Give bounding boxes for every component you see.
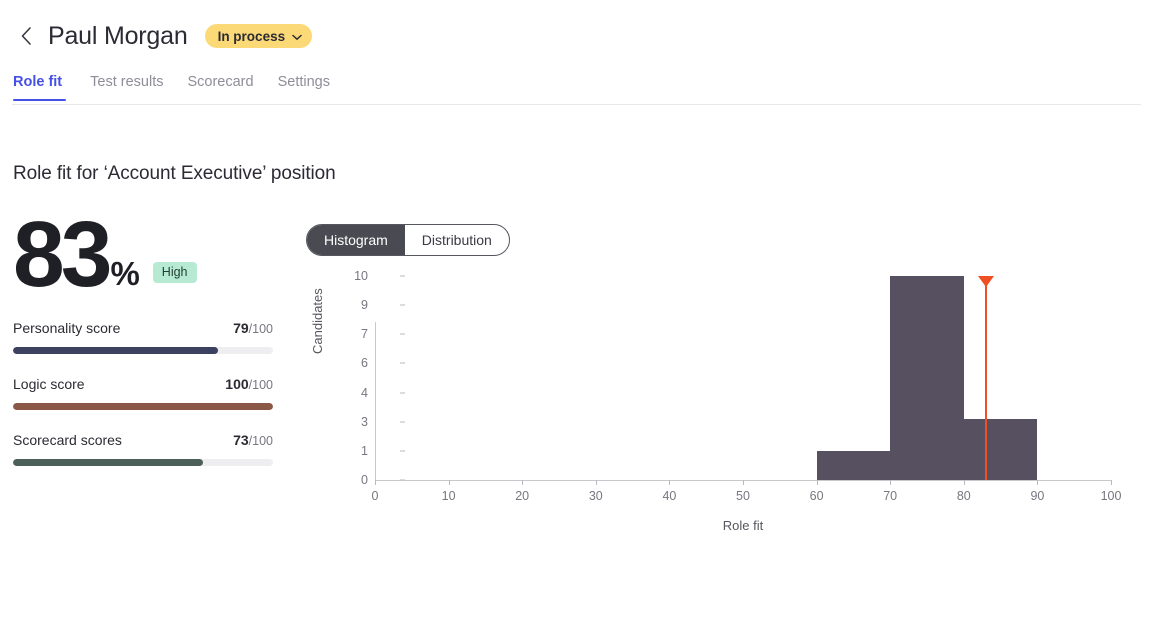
x-tick-label: 90 <box>1030 489 1044 503</box>
y-axis-label: Candidates <box>310 288 325 354</box>
x-tick-label: 60 <box>810 489 824 503</box>
toggle-option-histogram-label: Histogram <box>324 232 388 248</box>
tab-test-results[interactable]: Test results <box>78 74 175 101</box>
tab-test-results-label: Test results <box>90 74 163 90</box>
metric-label: Scorecard scores <box>13 432 122 448</box>
candidate-marker-arrow <box>978 276 994 287</box>
x-tick-label: 10 <box>442 489 456 503</box>
metric-value-denominator: /100 <box>249 378 273 392</box>
x-tick-label: 40 <box>662 489 676 503</box>
x-tick-label: 50 <box>736 489 750 503</box>
x-tick-mark <box>375 480 376 485</box>
candidate-marker-line <box>985 284 987 480</box>
x-tick-mark <box>669 480 670 485</box>
status-badge[interactable]: In process <box>205 24 313 48</box>
metric-label: Personality score <box>13 320 120 336</box>
metric-value: 73/100 <box>233 432 273 448</box>
overall-score-value: 83 <box>13 212 108 298</box>
x-tick-label: 80 <box>957 489 971 503</box>
metric-progress-track <box>13 459 273 466</box>
x-tick-mark <box>743 480 744 485</box>
metric-progress-fill <box>13 347 218 354</box>
score-panel: 83 % High Personality score 79/100 Logic… <box>13 206 273 466</box>
metric-value-denominator: /100 <box>249 434 273 448</box>
chart-view-toggle: Histogram Distribution <box>306 224 510 256</box>
metric-progress-track <box>13 403 273 410</box>
x-tick-label: 70 <box>883 489 897 503</box>
tab-role-fit[interactable]: Role fit <box>13 74 78 101</box>
status-badge-label: In process <box>218 29 286 44</box>
toggle-option-distribution-label: Distribution <box>422 232 492 248</box>
metric-value-number: 100 <box>225 376 248 392</box>
back-chevron-icon[interactable] <box>14 24 38 48</box>
page-header: Paul Morgan In process <box>0 0 1153 72</box>
plot-area <box>375 276 1111 480</box>
metric-value: 100/100 <box>225 376 273 392</box>
overall-score: 83 % High <box>13 206 273 298</box>
tab-role-fit-label: Role fit <box>13 74 62 90</box>
metric-personality-score: Personality score 79/100 <box>13 320 273 354</box>
metric-label: Logic score <box>13 376 85 392</box>
x-tick-mark <box>1037 480 1038 485</box>
page-title: Paul Morgan <box>48 22 188 51</box>
x-tick-mark <box>449 480 450 485</box>
section-title: Role fit for ‘Account Executive’ positio… <box>13 163 336 185</box>
metric-logic-score: Logic score 100/100 <box>13 376 273 410</box>
metric-progress-track <box>13 347 273 354</box>
tab-settings-label: Settings <box>278 74 330 90</box>
x-axis-label: Role fit <box>375 518 1111 533</box>
x-tick-label: 100 <box>1101 489 1122 503</box>
x-tick-label: 30 <box>589 489 603 503</box>
toggle-option-distribution[interactable]: Distribution <box>405 225 509 255</box>
tab-divider <box>12 104 1141 105</box>
x-tick-label: 20 <box>515 489 529 503</box>
x-tick-mark <box>817 480 818 485</box>
y-tick-label: 1 <box>361 444 368 458</box>
toggle-option-histogram[interactable]: Histogram <box>307 225 405 255</box>
metric-value-number: 79 <box>233 320 249 336</box>
x-tick-mark <box>596 480 597 485</box>
metric-value-denominator: /100 <box>249 322 273 336</box>
y-tick-label: 6 <box>361 356 368 370</box>
metric-progress-fill <box>13 403 273 410</box>
role-fit-page: Paul Morgan In process Role fit Test res… <box>0 0 1153 629</box>
histogram-bar <box>817 451 891 480</box>
x-tick-label: 0 <box>372 489 379 503</box>
tab-settings[interactable]: Settings <box>266 74 342 101</box>
metric-progress-fill <box>13 459 203 466</box>
metric-scorecard-scores: Scorecard scores 73/100 <box>13 432 273 466</box>
y-tick-label: 7 <box>361 327 368 341</box>
y-tick-label: 0 <box>361 473 368 487</box>
metric-value-number: 73 <box>233 432 249 448</box>
overall-score-badge: High <box>153 262 197 283</box>
histogram-bar <box>890 276 964 480</box>
chart-area: Histogram Distribution Candidates 109764… <box>306 224 1136 564</box>
x-tick-mark <box>1111 480 1112 485</box>
tab-scorecard[interactable]: Scorecard <box>175 74 265 101</box>
tab-bar: Role fit Test results Scorecard Settings <box>0 74 1153 105</box>
y-tick-label: 10 <box>354 269 368 283</box>
histogram-chart: Candidates 109764310 0102030405060708090… <box>306 268 1136 558</box>
y-tick-label: 4 <box>361 386 368 400</box>
y-axis-ticks: 109764310 <box>336 268 368 480</box>
y-tick-label: 3 <box>361 415 368 429</box>
y-tick-label: 9 <box>361 298 368 312</box>
x-tick-mark <box>890 480 891 485</box>
overall-score-unit: % <box>110 255 138 293</box>
chevron-down-icon <box>292 29 302 44</box>
histogram-bar <box>964 419 1038 480</box>
metric-value: 79/100 <box>233 320 273 336</box>
x-tick-mark <box>522 480 523 485</box>
x-tick-mark <box>964 480 965 485</box>
tab-scorecard-label: Scorecard <box>187 74 253 90</box>
